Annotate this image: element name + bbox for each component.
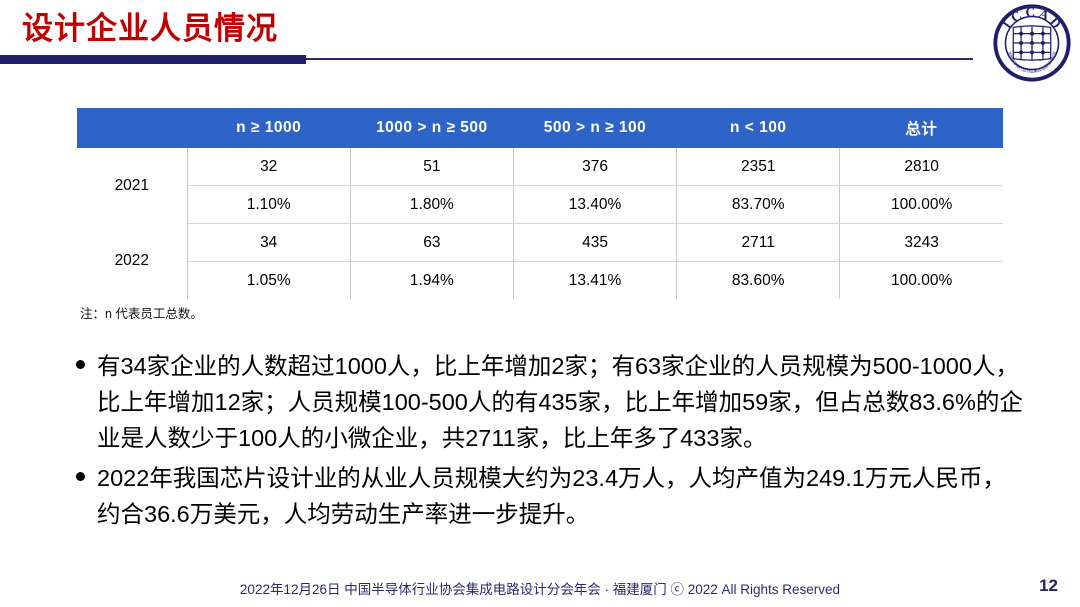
list-item: 2022年我国芯片设计业的从业人员规模大约为23.4万人，人均产值为249.1万… — [76, 460, 1028, 532]
title-rule-thick — [0, 55, 306, 64]
table-cell: 34 — [187, 224, 350, 262]
bullet-dot-icon — [76, 472, 85, 481]
table-row: 2021 32 51 376 2351 2810 — [77, 148, 1003, 186]
table-cell: 376 — [513, 148, 676, 186]
row-year-label: 2022 — [77, 224, 187, 300]
table-cell: 51 — [350, 148, 513, 186]
table-cell: 100.00% — [840, 262, 1003, 300]
table-cell: 32 — [187, 148, 350, 186]
table-cell: 3243 — [840, 224, 1003, 262]
table-header-cell: 1000 > n ≥ 500 — [350, 108, 513, 148]
footer-text: 2022年12月26日 中国半导体行业协会集成电路设计分会年会 · 福建厦门 ⓒ… — [0, 578, 1080, 598]
table-cell: 63 — [350, 224, 513, 262]
page-title: 设计企业人员情况 — [22, 10, 278, 47]
table-row: 1.05% 1.94% 13.41% 83.60% 100.00% — [77, 262, 1003, 300]
table-cell: 13.40% — [513, 186, 676, 224]
table-cell: 2810 — [840, 148, 1003, 186]
table-header-cell: 500 > n ≥ 100 — [513, 108, 676, 148]
table-cell: 13.41% — [513, 262, 676, 300]
table-cell: 2711 — [677, 224, 840, 262]
table-header-cell: n < 100 — [677, 108, 840, 148]
bullet-text: 有34家企业的人数超过1000人，比上年增加2家；有63家企业的人员规模为500… — [97, 348, 1028, 456]
table-header-cell: 总计 — [840, 108, 1003, 148]
table-cell: 1.10% — [187, 186, 350, 224]
table-note: 注：n 代表员工总数。 — [80, 303, 203, 322]
title-rule-thin — [306, 58, 973, 60]
list-item: 有34家企业的人数超过1000人，比上年增加2家；有63家企业的人员规模为500… — [76, 348, 1028, 456]
table-row: 2022 34 63 435 2711 3243 — [77, 224, 1003, 262]
table-cell: 435 — [513, 224, 676, 262]
table-header-row: n ≥ 1000 1000 > n ≥ 500 500 > n ≥ 100 n … — [77, 108, 1003, 148]
bullet-text: 2022年我国芯片设计业的从业人员规模大约为23.4万人，人均产值为249.1万… — [97, 460, 1028, 532]
bullet-dot-icon — [76, 360, 85, 369]
table-cell: 1.94% — [350, 262, 513, 300]
table-cell: 100.00% — [840, 186, 1003, 224]
table-header-cell: n ≥ 1000 — [187, 108, 350, 148]
bullet-list: 有34家企业的人数超过1000人，比上年增加2家；有63家企业的人员规模为500… — [76, 348, 1028, 536]
table-cell: 1.05% — [187, 262, 350, 300]
table-cell: 1.80% — [350, 186, 513, 224]
page-number: 12 — [1039, 576, 1058, 596]
personnel-table: n ≥ 1000 1000 > n ≥ 500 500 > n ≥ 100 n … — [77, 108, 1003, 299]
table-corner-header — [77, 108, 187, 148]
table-cell: 83.70% — [677, 186, 840, 224]
table-cell: 83.60% — [677, 262, 840, 300]
table-cell: 2351 — [677, 148, 840, 186]
row-year-label: 2021 — [77, 148, 187, 224]
table-row: 1.10% 1.80% 13.40% 83.70% 100.00% — [77, 186, 1003, 224]
iccad-logo: I C C A D 中国半导体行业协会集成电路设计分会 — [993, 4, 1071, 82]
